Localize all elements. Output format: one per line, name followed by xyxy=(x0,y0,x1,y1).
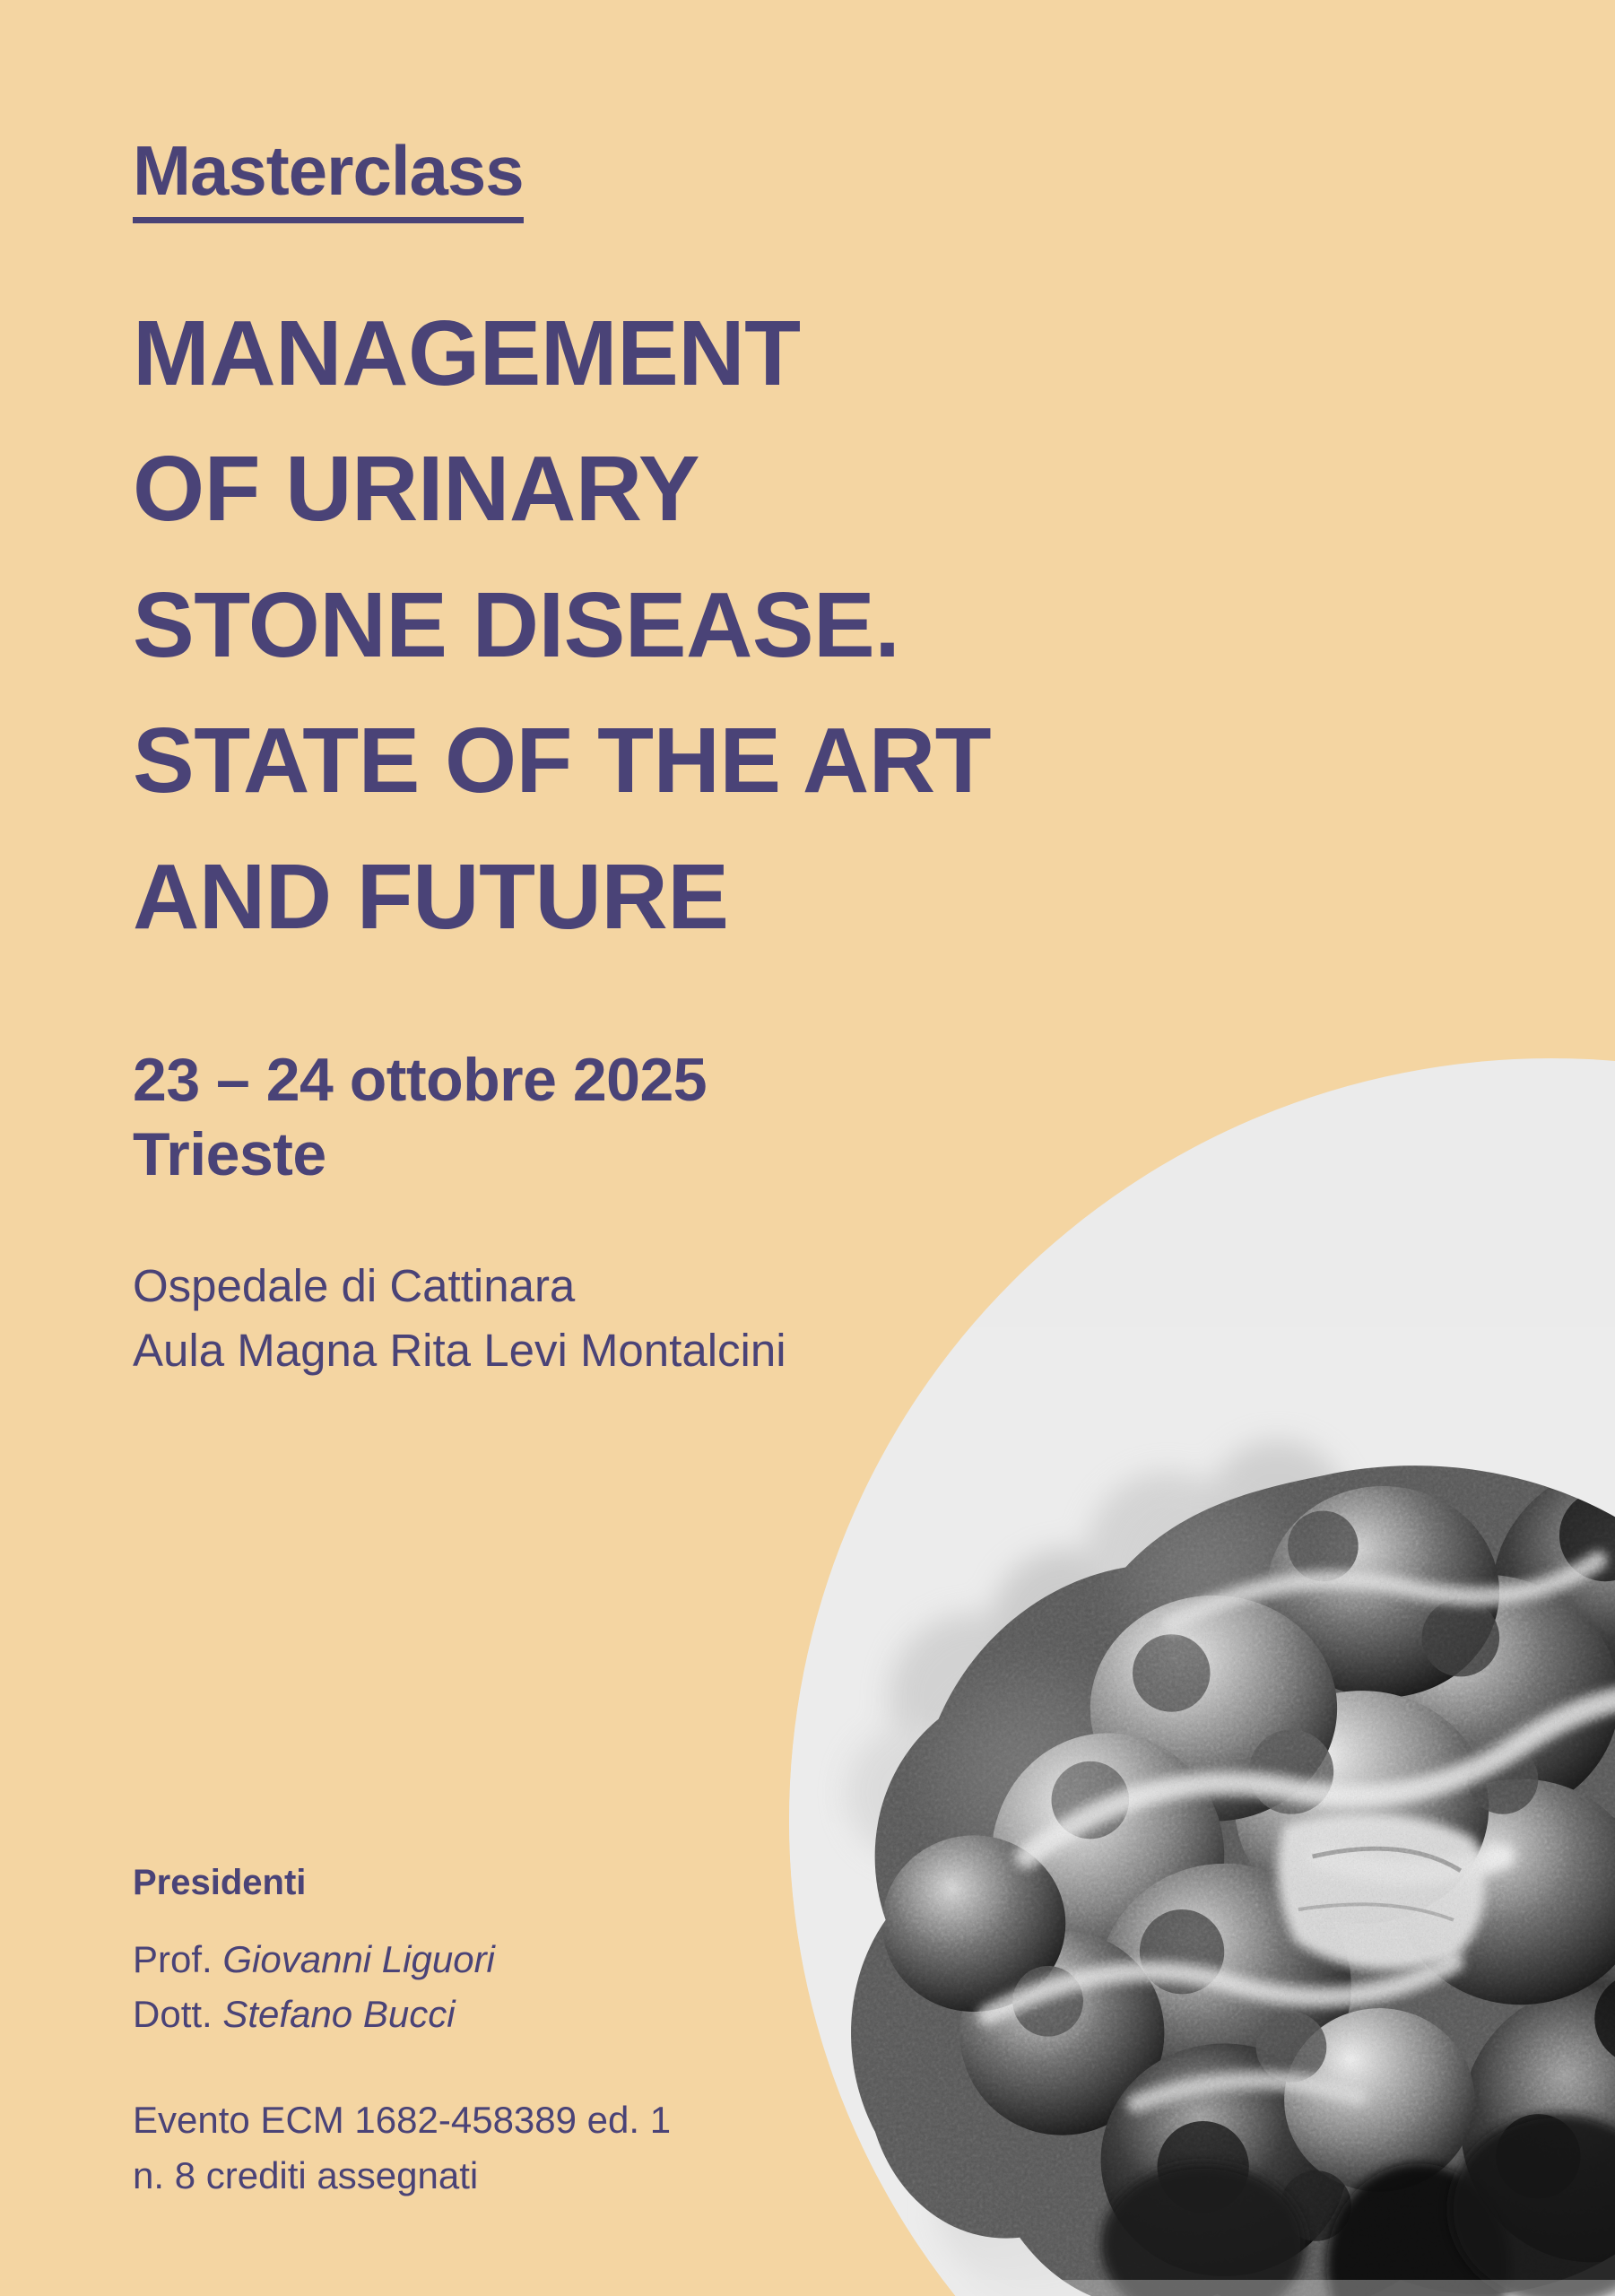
event-date-location: 23 – 24 ottobre 2025 Trieste xyxy=(133,1043,707,1192)
president-1-title: Prof. xyxy=(133,1938,222,1980)
headline-line-4: STATE OF THE ART xyxy=(133,692,1227,828)
headline-line-3: STONE DISEASE. xyxy=(133,557,1227,692)
venue-block: Ospedale di Cattinara Aula Magna Rita Le… xyxy=(133,1254,786,1384)
ecm-event-code: Evento ECM 1682-458389 ed. 1 xyxy=(133,2092,671,2148)
poster-canvas: Masterclass MANAGEMENT OF URINARY STONE … xyxy=(0,0,1615,2296)
headline-line-1: MANAGEMENT xyxy=(133,285,1227,421)
presidents-heading: Presidenti xyxy=(133,1861,495,1904)
poster-text-column: Masterclass MANAGEMENT OF URINARY STONE … xyxy=(133,0,1245,2296)
ecm-credits: n. 8 crediti assegnati xyxy=(133,2148,671,2204)
president-2-title: Dott. xyxy=(133,1993,222,2035)
ecm-accreditation-block: Evento ECM 1682-458389 ed. 1 n. 8 credit… xyxy=(133,2092,671,2204)
event-city: Trieste xyxy=(133,1118,707,1192)
headline-line-5: AND FUTURE xyxy=(133,829,1227,964)
presidents-block: Presidenti Prof. Giovanni Liguori Dott. … xyxy=(133,1861,495,2042)
president-2: Dott. Stefano Bucci xyxy=(133,1987,495,2042)
kicker-masterclass: Masterclass xyxy=(133,135,524,223)
venue-building: Ospedale di Cattinara xyxy=(133,1254,786,1318)
headline-line-2: OF URINARY xyxy=(133,421,1227,556)
president-1-name: Giovanni Liguori xyxy=(222,1938,495,1980)
page-title: MANAGEMENT OF URINARY STONE DISEASE. STA… xyxy=(133,285,1227,964)
venue-hall: Aula Magna Rita Levi Montalcini xyxy=(133,1318,786,1383)
president-2-name: Stefano Bucci xyxy=(222,1993,455,2035)
event-dates: 23 – 24 ottobre 2025 xyxy=(133,1043,707,1118)
president-1: Prof. Giovanni Liguori xyxy=(133,1933,495,1987)
